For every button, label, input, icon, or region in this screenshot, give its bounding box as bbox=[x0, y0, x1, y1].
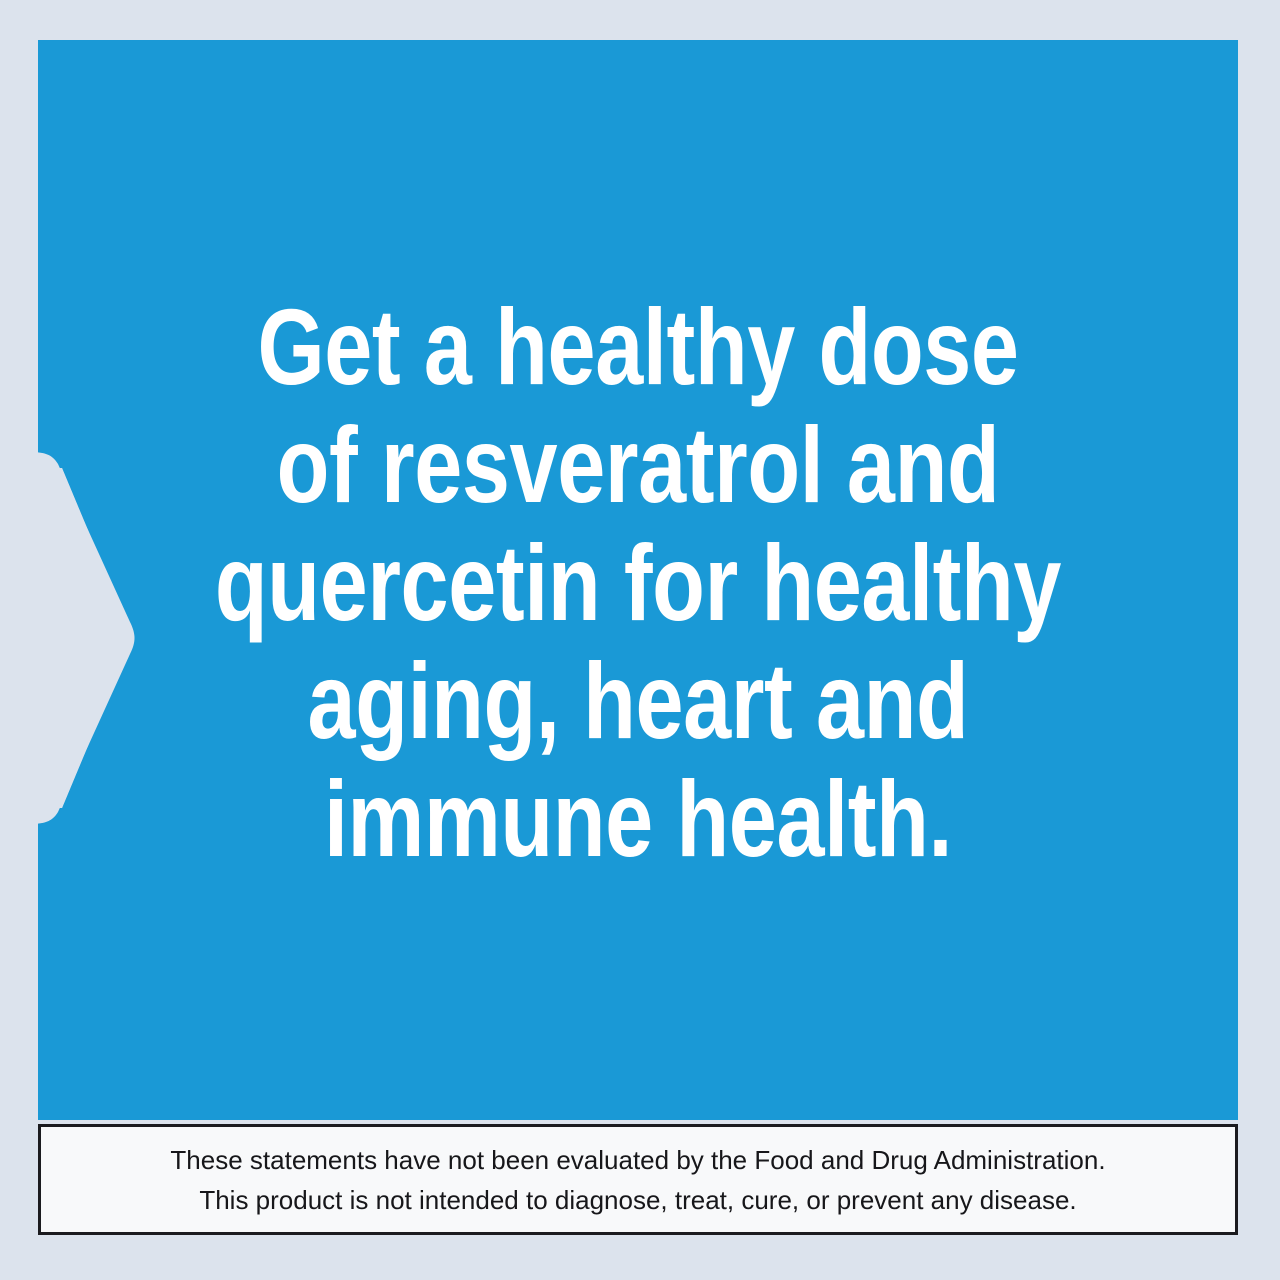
headline-line-4: aging, heart and bbox=[158, 642, 1118, 760]
promo-banner: Get a healthy dose of resveratrol and qu… bbox=[0, 0, 1280, 1280]
headline-line-3: quercetin for healthy bbox=[158, 524, 1118, 642]
disclaimer-line-2: This product is not intended to diagnose… bbox=[199, 1180, 1076, 1220]
headline-line-5: immune health. bbox=[158, 760, 1118, 878]
disclaimer-line-1: These statements have not been evaluated… bbox=[170, 1140, 1105, 1180]
fda-disclaimer-box: These statements have not been evaluated… bbox=[38, 1124, 1238, 1235]
headline-line-1: Get a healthy dose bbox=[158, 288, 1118, 406]
headline-line-2: of resveratrol and bbox=[158, 406, 1118, 524]
headline: Get a healthy dose of resveratrol and qu… bbox=[38, 288, 1238, 878]
